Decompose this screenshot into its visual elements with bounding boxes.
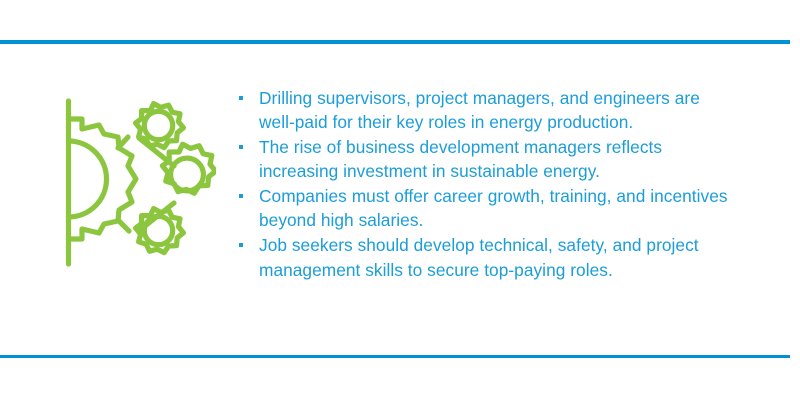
bullet-marker-icon [239, 145, 243, 149]
content-row: Drilling supervisors, project managers, … [0, 44, 800, 355]
list-item-text: Companies must offer career growth, trai… [259, 186, 728, 230]
top-gear-inner [144, 111, 172, 139]
bullet-marker-icon [239, 194, 243, 198]
connector-arm-bottom [119, 221, 129, 231]
gears-cogs-icon [56, 90, 216, 275]
right-gear-inner [171, 158, 204, 191]
list-item-text: The rise of business development manager… [259, 137, 662, 181]
bullet-marker-icon [239, 96, 243, 100]
slide-container: Drilling supervisors, project managers, … [0, 0, 800, 400]
text-cell: Drilling supervisors, project managers, … [232, 44, 800, 282]
list-item-text: Job seekers should develop technical, sa… [259, 235, 699, 279]
list-item: Companies must offer career growth, trai… [232, 184, 732, 233]
bottom-gear-inner [144, 216, 172, 244]
large-gear-inner [69, 141, 107, 217]
bullet-marker-icon [239, 243, 243, 247]
icon-cell [0, 44, 232, 275]
list-item: Drilling supervisors, project managers, … [232, 86, 732, 135]
list-item-text: Drilling supervisors, project managers, … [259, 88, 700, 132]
list-item: Job seekers should develop technical, sa… [232, 233, 732, 282]
bottom-divider-rule [0, 355, 790, 358]
bullet-list: Drilling supervisors, project managers, … [232, 86, 732, 282]
list-item: The rise of business development manager… [232, 135, 732, 184]
